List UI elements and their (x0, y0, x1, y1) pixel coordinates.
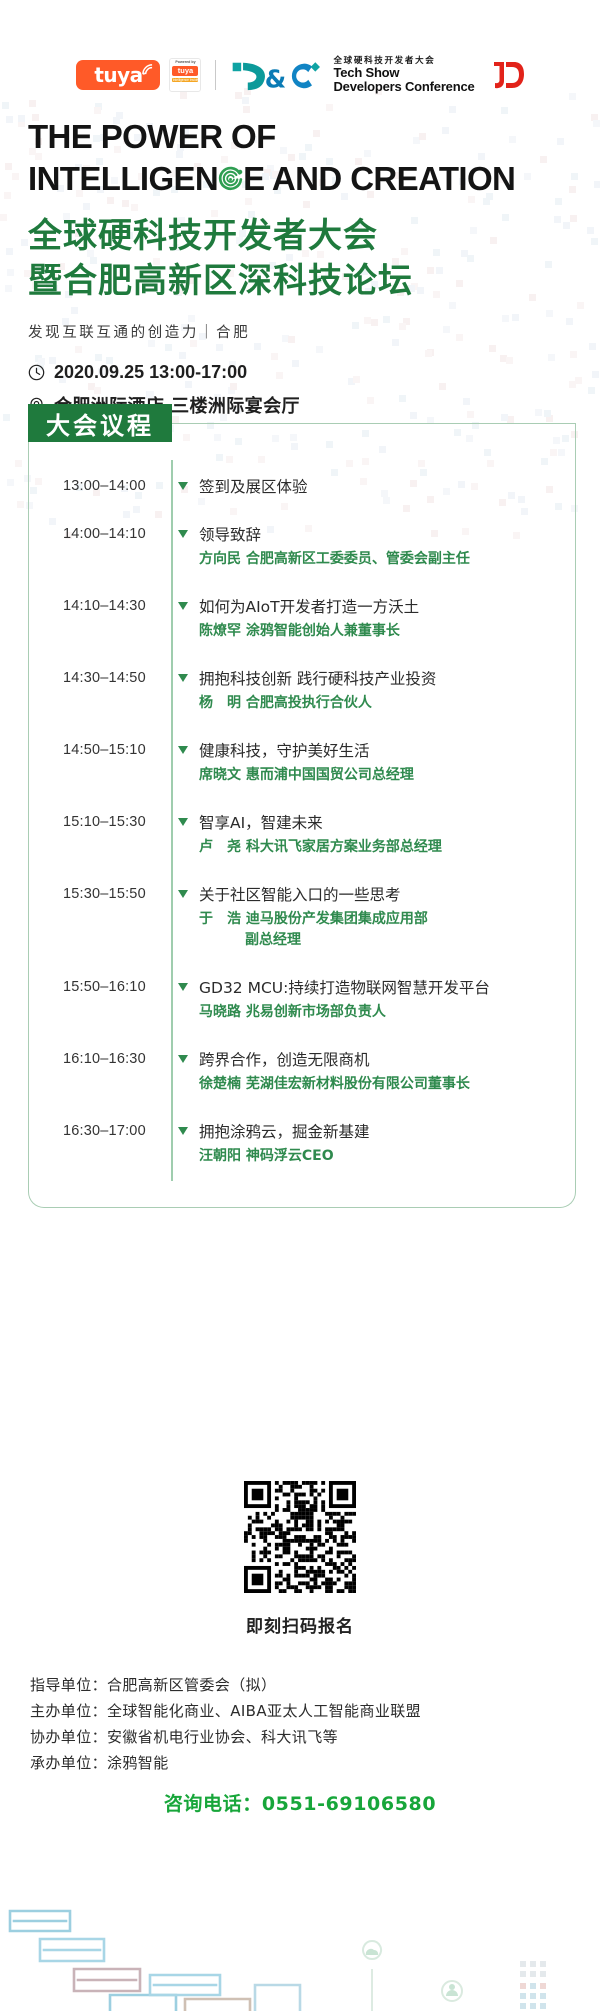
agenda-row: 13:00–14:00签到及展区体验 (29, 476, 575, 498)
agenda-timeline (171, 460, 173, 1181)
english-title-line1: THE POWER OF (28, 116, 576, 158)
sponsor-line: 协办单位：安徽省机电行业协会、科大讯飞等 (30, 1724, 570, 1750)
qr-code[interactable] (244, 1481, 356, 1593)
chinese-title-line1: 全球硬科技开发者大会 (28, 214, 576, 259)
sponsors-block: 指导单位：合肥高新区管委会（拟） 主办单位：全球智能化商业、AIBA亚太人工智能… (30, 1672, 570, 1776)
event-date-text: 2020.09.25 13:00-17:00 (54, 362, 247, 383)
agenda-row-title: 签到及展区体验 (199, 476, 557, 498)
triangle-marker-icon (178, 983, 188, 991)
powered-tagline: Intelligence Inside (172, 78, 198, 83)
agenda-section: 大会议程 13:00–14:00签到及展区体验14:00–14:10领导致辞方向… (28, 404, 576, 1208)
agenda-row: 15:10–15:30智享AI，智建未来卢 尧 科大讯飞家居方案业务部总经理 (29, 812, 575, 858)
agenda-row: 16:10–16:30跨界合作，创造无限商机徐楚楠 芜湖佳宏新材料股份有限公司董… (29, 1049, 575, 1095)
triangle-marker-icon (178, 818, 188, 826)
english-title-line2-after: E AND CREATION (243, 158, 515, 200)
agenda-row-speaker: 卢 尧 科大讯飞家居方案业务部总经理 (199, 837, 557, 858)
agenda-row-content: 关于社区智能入口的一些思考于 浩 迪马股份产发集团集成应用部副总经理 (199, 884, 557, 951)
triangle-marker-icon (178, 746, 188, 754)
powered-by-label: Powered by (175, 60, 195, 65)
city-skyline-decoration (0, 1835, 600, 2011)
partner-logo-icon (490, 59, 524, 91)
agenda-row-content: 健康科技，守护美好生活席晓文 惠而浦中国国贸公司总经理 (199, 740, 557, 786)
dc-logo-group: & 全球硬科技开发者大会 Tech Show Developers Confer… (230, 57, 474, 94)
triangle-marker-icon (178, 602, 188, 610)
agenda-row-title: 健康科技，守护美好生活 (199, 740, 557, 762)
poster-page: tuya Powered by tuya Intelligence Inside… (0, 0, 600, 2011)
sponsor-line: 指导单位：合肥高新区管委会（拟） (30, 1672, 570, 1698)
english-title-line2: INTELLIGEN E AND CREATION (28, 158, 576, 200)
agenda-row-time: 14:10–14:30 (63, 596, 167, 614)
agenda-badge: 大会议程 (28, 404, 172, 442)
chinese-title-line2: 暨合肥高新区深科技论坛 (28, 259, 576, 304)
clock-icon (28, 364, 45, 381)
hero-section: THE POWER OF INTELLIGEN E AND CREATION 全… (28, 116, 576, 427)
triangle-marker-icon (178, 674, 188, 682)
agenda-row-speaker-continuation: 副总经理 (199, 930, 557, 951)
triangle-marker-icon (178, 482, 188, 490)
triangle-marker-icon (178, 1055, 188, 1063)
registration-block: 即刻扫码报名 (0, 1481, 600, 1637)
logo-divider (215, 60, 216, 90)
powered-by-tuya-badge: Powered by tuya Intelligence Inside (169, 58, 201, 92)
tech-circle-icon (217, 166, 244, 193)
agenda-row-content: GD32 MCU:持续打造物联网智慧开发平台马晓路 兆易创新市场部负责人 (199, 977, 557, 1023)
agenda-row-content: 如何为AIoT开发者打造一方沃土陈燎罕 涂鸦智能创始人兼董事长 (199, 596, 557, 642)
agenda-row-content: 智享AI，智建未来卢 尧 科大讯飞家居方案业务部总经理 (199, 812, 557, 858)
agenda-row-time: 15:30–15:50 (63, 884, 167, 902)
agenda-row-time: 16:10–16:30 (63, 1049, 167, 1067)
agenda-row-speaker: 马晓路 兆易创新市场部负责人 (199, 1002, 557, 1023)
agenda-row-speaker: 于 浩 迪马股份产发集团集成应用部副总经理 (199, 909, 557, 951)
agenda-row: 14:30–14:50拥抱科技创新 践行硬科技产业投资杨 明 合肥高投执行合伙人 (29, 668, 575, 714)
agenda-row-content: 签到及展区体验 (199, 476, 557, 498)
agenda-row-speaker: 席晓文 惠而浦中国国贸公司总经理 (199, 765, 557, 786)
dc-logo-en-line1: Tech Show (333, 66, 474, 80)
triangle-marker-icon (178, 530, 188, 538)
agenda-row-content: 拥抱科技创新 践行硬科技产业投资杨 明 合肥高投执行合伙人 (199, 668, 557, 714)
wifi-icon (142, 64, 153, 75)
triangle-marker-icon (178, 1127, 188, 1135)
agenda-row-time: 14:00–14:10 (63, 524, 167, 542)
agenda-row-speaker: 杨 明 合肥高投执行合伙人 (199, 693, 557, 714)
agenda-row-content: 拥抱涂鸦云，掘金新基建汪朝阳 神码浮云CEO (199, 1121, 557, 1167)
agenda-row-title: 智享AI，智建未来 (199, 812, 557, 834)
agenda-row: 15:50–16:10GD32 MCU:持续打造物联网智慧开发平台马晓路 兆易创… (29, 977, 575, 1023)
dc-logo-icon: & (230, 58, 326, 92)
dc-logo-text-block: 全球硬科技开发者大会 Tech Show Developers Conferen… (333, 57, 474, 94)
agenda-row-speaker: 方向民 合肥高新区工委委员、管委会副主任 (199, 549, 557, 570)
agenda-row-list: 13:00–14:00签到及展区体验14:00–14:10领导致辞方向民 合肥高… (29, 476, 575, 1167)
agenda-row-title: 如何为AIoT开发者打造一方沃土 (199, 596, 557, 618)
agenda-row-time: 16:30–17:00 (63, 1121, 167, 1139)
agenda-row: 16:30–17:00拥抱涂鸦云，掘金新基建汪朝阳 神码浮云CEO (29, 1121, 575, 1167)
sponsor-line: 承办单位：涂鸦智能 (30, 1750, 570, 1776)
agenda-row-time: 15:10–15:30 (63, 812, 167, 830)
event-date-row: 2020.09.25 13:00-17:00 (28, 362, 576, 383)
agenda-row-title: 拥抱科技创新 践行硬科技产业投资 (199, 668, 557, 690)
agenda-row: 14:50–15:10健康科技，守护美好生活席晓文 惠而浦中国国贸公司总经理 (29, 740, 575, 786)
agenda-row-time: 14:50–15:10 (63, 740, 167, 758)
agenda-row-time: 15:50–16:10 (63, 977, 167, 995)
agenda-top-rule (172, 404, 576, 442)
svg-text:&: & (265, 64, 286, 92)
agenda-row: 14:00–14:10领导致辞方向民 合肥高新区工委委员、管委会副主任 (29, 524, 575, 570)
agenda-row-speaker: 汪朝阳 神码浮云CEO (199, 1146, 557, 1167)
agenda-row-time: 13:00–14:00 (63, 476, 167, 494)
chinese-subtitle: 发现互联互通的创造力｜合肥 (28, 321, 576, 342)
tuya-logo-text: tuya (94, 63, 142, 87)
triangle-marker-icon (178, 890, 188, 898)
contact-phone: 咨询电话：0551-69106580 (0, 1789, 600, 1816)
agenda-row-time: 14:30–14:50 (63, 668, 167, 686)
agenda-row: 15:30–15:50关于社区智能入口的一些思考于 浩 迪马股份产发集团集成应用… (29, 884, 575, 951)
agenda-row-speaker: 陈燎罕 涂鸦智能创始人兼董事长 (199, 621, 557, 642)
logo-bar: tuya Powered by tuya Intelligence Inside… (0, 52, 600, 98)
english-title-line2-before: INTELLIGEN (28, 158, 218, 200)
agenda-body: 13:00–14:00签到及展区体验14:00–14:10领导致辞方向民 合肥高… (28, 442, 576, 1208)
registration-caption: 即刻扫码报名 (0, 1612, 600, 1637)
agenda-header: 大会议程 (28, 404, 576, 442)
chinese-title: 全球硬科技开发者大会 暨合肥高新区深科技论坛 (28, 214, 576, 304)
agenda-row-title: 关于社区智能入口的一些思考 (199, 884, 557, 906)
agenda-row-title: 跨界合作，创造无限商机 (199, 1049, 557, 1071)
agenda-row-content: 跨界合作，创造无限商机徐楚楠 芜湖佳宏新材料股份有限公司董事长 (199, 1049, 557, 1095)
agenda-row: 14:10–14:30如何为AIoT开发者打造一方沃土陈燎罕 涂鸦智能创始人兼董… (29, 596, 575, 642)
sponsor-line: 主办单位：全球智能化商业、AIBA亚太人工智能商业联盟 (30, 1698, 570, 1724)
dc-logo-en-line2: Developers Conference (333, 80, 474, 94)
tuya-logo: tuya (76, 60, 160, 90)
agenda-row-title: 拥抱涂鸦云，掘金新基建 (199, 1121, 557, 1143)
agenda-row-speaker: 徐楚楠 芜湖佳宏新材料股份有限公司董事长 (199, 1074, 557, 1095)
agenda-row-content: 领导致辞方向民 合肥高新区工委委员、管委会副主任 (199, 524, 557, 570)
powered-tuya-label: tuya (172, 66, 198, 76)
agenda-row-title: GD32 MCU:持续打造物联网智慧开发平台 (199, 977, 557, 999)
agenda-row-title: 领导致辞 (199, 524, 557, 546)
